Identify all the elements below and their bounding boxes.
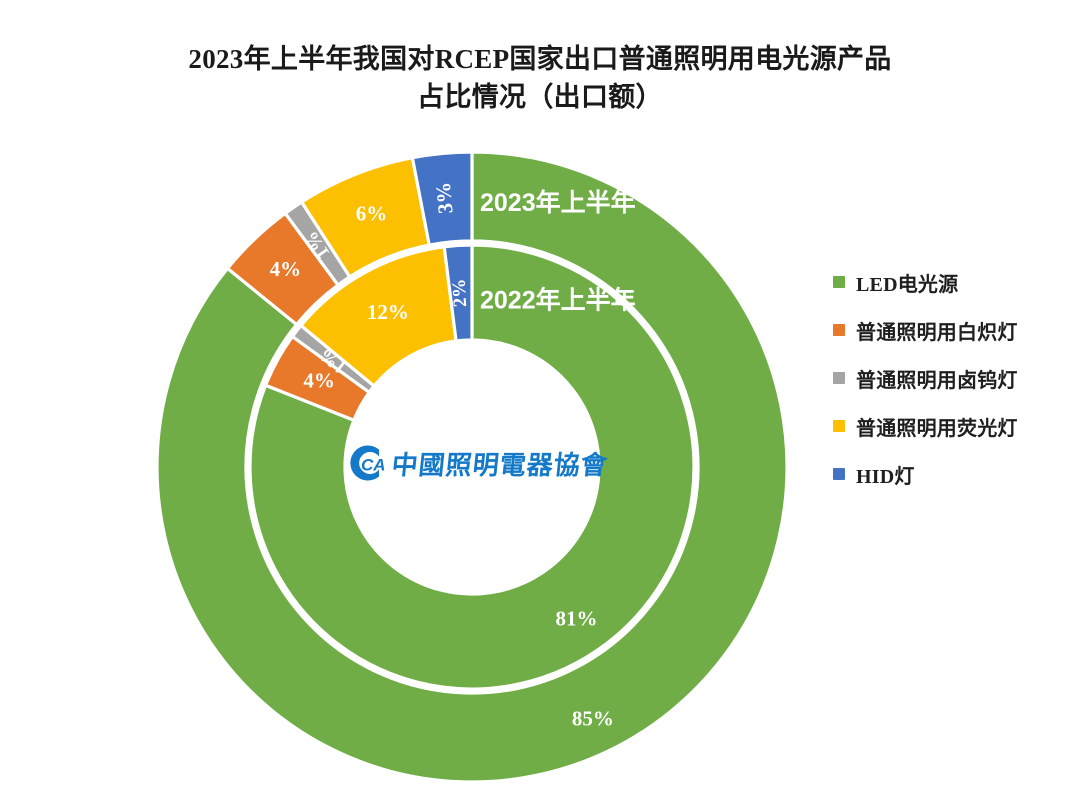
- legend-item-4[interactable]: HID灯: [833, 450, 1063, 498]
- legend-swatch-icon-3: [833, 420, 845, 432]
- ring-name-label-outer: 2023年上半年: [480, 188, 636, 217]
- chart-page: 2023年上半年我国对RCEP国家出口普通照明用电光源产品 占比情况（出口额） …: [0, 0, 1080, 787]
- legend-item-3[interactable]: 普通照明用荧光灯: [833, 402, 1063, 450]
- legend-item-0[interactable]: LED电光源: [833, 258, 1063, 306]
- legend-label-3: 普通照明用荧光灯: [856, 412, 1018, 441]
- slice-percent-label: 4%: [270, 257, 302, 281]
- legend: LED电光源 普通照明用白炽灯 普通照明用卤钨灯 普通照明用荧光灯 HID灯: [833, 258, 1063, 498]
- slice-percent-label: 85%: [572, 707, 614, 731]
- slice-percent-label: 3%: [431, 181, 458, 215]
- legend-swatch-icon-2: [833, 372, 845, 384]
- ring-name-label-inner: 2022年上半年: [480, 286, 636, 315]
- legend-swatch-icon-0: [833, 276, 845, 288]
- legend-label-2: 普通照明用卤钨灯: [856, 364, 1018, 393]
- slice-percent-label: 2%: [449, 278, 472, 308]
- slice-percent-label: 12%: [367, 300, 409, 324]
- legend-label-0: LED电光源: [856, 268, 958, 297]
- legend-swatch-icon-4: [833, 468, 845, 480]
- slice-percent-label: 81%: [555, 607, 597, 631]
- legend-label-4: HID灯: [856, 460, 915, 489]
- legend-swatch-icon-1: [833, 324, 845, 336]
- slice-percent-label: 6%: [356, 202, 388, 226]
- legend-item-1[interactable]: 普通照明用白炽灯: [833, 306, 1063, 354]
- legend-item-2[interactable]: 普通照明用卤钨灯: [833, 354, 1063, 402]
- legend-label-1: 普通照明用白炽灯: [856, 316, 1018, 345]
